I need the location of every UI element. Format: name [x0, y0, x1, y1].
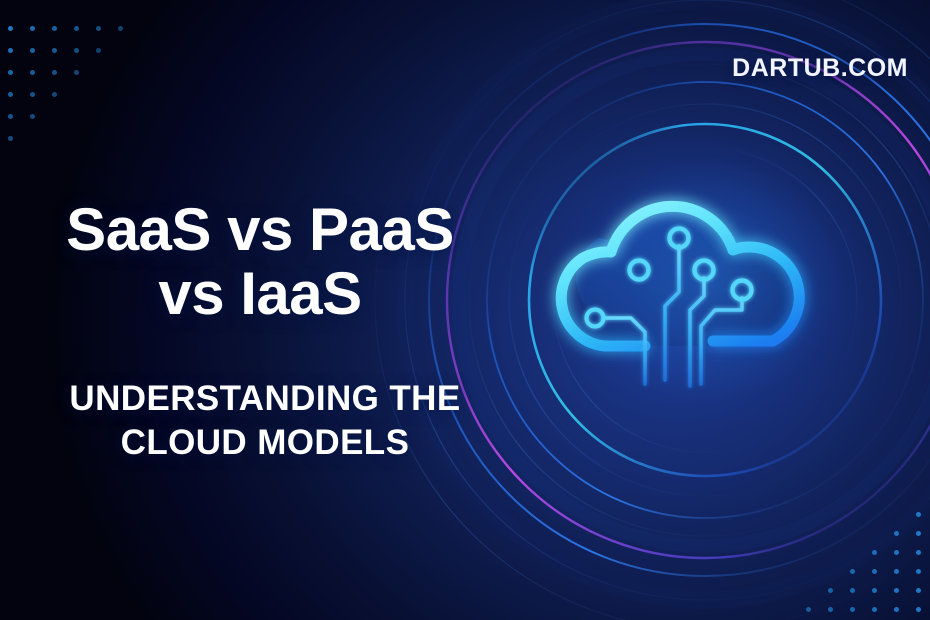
headline-line-1: SaaS vs PaaS	[66, 196, 454, 263]
headline-line-2: vs IaaS	[0, 262, 520, 326]
title-card: SaaS vs PaaS vs IaaS UNDERSTANDING THE C…	[0, 0, 930, 620]
page-subtitle: UNDERSTANDING THE CLOUD MODELS	[0, 377, 530, 465]
dot-grid-top-left	[8, 26, 128, 146]
subheadline-line-2: CLOUD MODELS	[0, 421, 530, 465]
page-title: SaaS vs PaaS vs IaaS	[0, 198, 520, 325]
subheadline-line-1: UNDERSTANDING THE	[69, 379, 460, 418]
cloud-circuit-icon	[527, 140, 872, 410]
watermark-brand: DARTUB.COM	[732, 54, 908, 83]
dot-grid-bottom-right	[828, 512, 930, 620]
